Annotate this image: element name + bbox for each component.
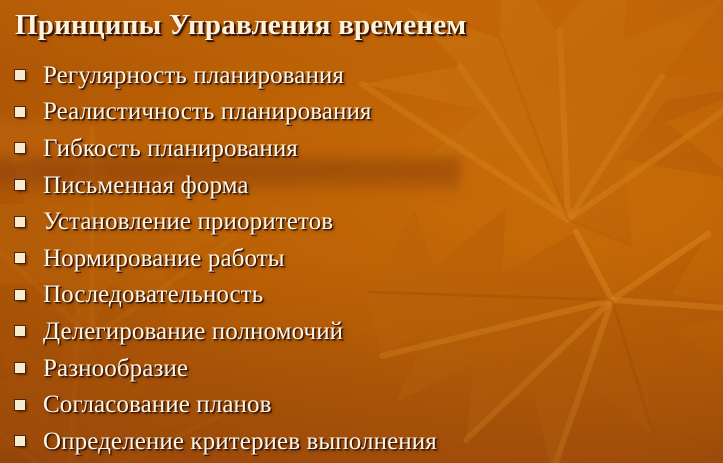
presentation-slide: Принципы Управления временем Регулярност… — [0, 0, 723, 463]
bullet-label: Разнообразие — [43, 356, 188, 381]
bullet-label: Определение критериев выполнения — [43, 429, 437, 454]
bullet-label: Регулярность планирования — [43, 63, 344, 88]
bullet-label: Реалистичность планирования — [43, 99, 372, 124]
square-bullet-icon — [15, 436, 25, 446]
bullet-item: Реалистичность планирования — [0, 94, 723, 131]
bullet-item: Нормирование работы — [0, 240, 723, 277]
bullet-item: Последовательность — [0, 277, 723, 314]
bullet-label: Нормирование работы — [43, 246, 285, 271]
bullet-item: Делегирование полномочий — [0, 313, 723, 350]
bullet-item: Письменная форма — [0, 167, 723, 204]
square-bullet-icon — [15, 107, 25, 117]
square-bullet-icon — [15, 253, 25, 263]
square-bullet-icon — [15, 400, 25, 410]
bullet-item: Регулярность планирования — [0, 57, 723, 94]
square-bullet-icon — [15, 70, 25, 80]
bullet-item: Определение критериев выполнения — [0, 423, 723, 460]
bullet-item: Разнообразие — [0, 350, 723, 387]
bullet-item: Установление приоритетов — [0, 203, 723, 240]
square-bullet-icon — [15, 143, 25, 153]
square-bullet-icon — [15, 326, 25, 336]
bullet-label: Делегирование полномочий — [43, 319, 343, 344]
bullet-label: Установление приоритетов — [43, 209, 333, 234]
slide-content: Принципы Управления временем Регулярност… — [0, 0, 723, 463]
bullet-list: Регулярность планирования Реалистичность… — [0, 57, 723, 460]
bullet-label: Последовательность — [43, 282, 263, 307]
bullet-item: Гибкость планирования — [0, 130, 723, 167]
bullet-item: Согласование планов — [0, 386, 723, 423]
square-bullet-icon — [15, 217, 25, 227]
bullet-label: Согласование планов — [43, 392, 272, 417]
square-bullet-icon — [15, 180, 25, 190]
bullet-label: Гибкость планирования — [43, 136, 298, 161]
square-bullet-icon — [15, 363, 25, 373]
square-bullet-icon — [15, 290, 25, 300]
bullet-label: Письменная форма — [43, 173, 249, 198]
slide-title: Принципы Управления временем — [15, 9, 466, 42]
